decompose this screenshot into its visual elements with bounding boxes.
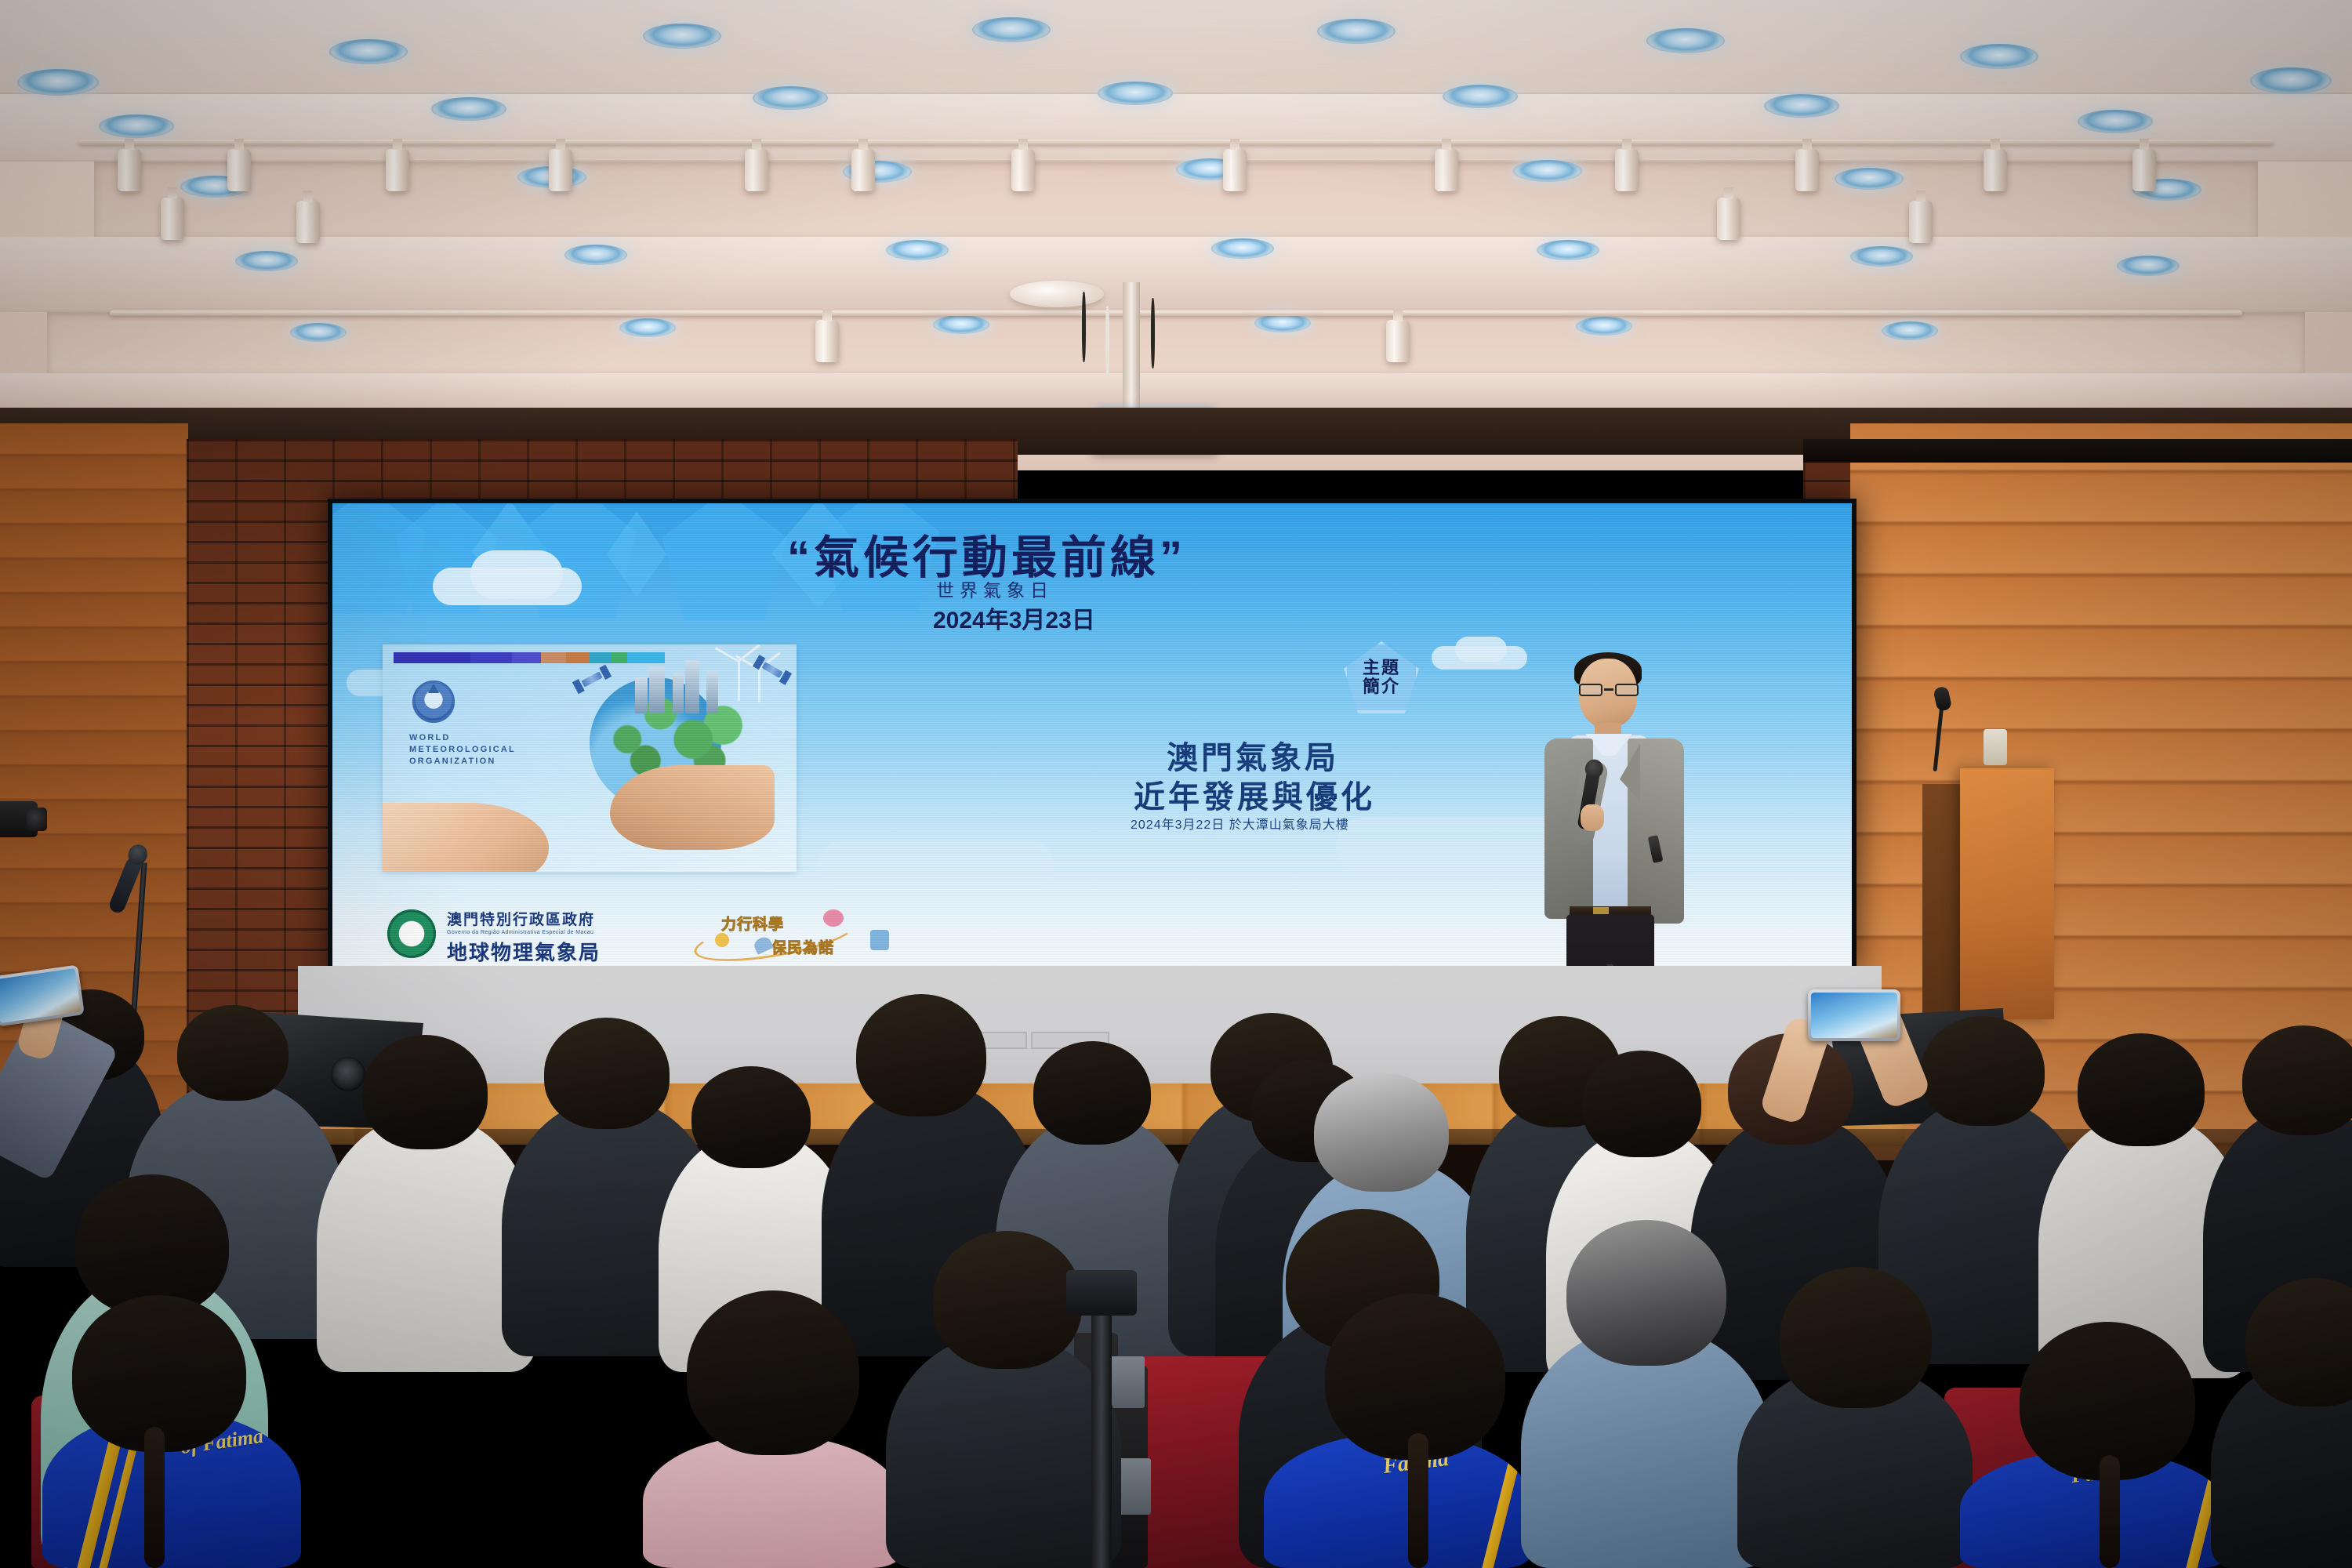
dept-name-cn: 地球物理氣象局 [447, 937, 601, 966]
wall-phone [1984, 729, 2007, 765]
ceiling-downlight [235, 251, 298, 271]
track-spotlight [1223, 149, 1247, 191]
ceiling-downlight [17, 69, 99, 96]
section-note: 2024年3月22日 於大潭山氣象局大樓 [1131, 814, 1349, 833]
slide-date: 2024年3月23日 [933, 601, 1095, 635]
satellite-icon [761, 662, 782, 678]
track-spotlight [1435, 149, 1458, 191]
ceiling [0, 0, 2352, 470]
macau-government-seal-icon [387, 909, 436, 958]
audience-hair-grey [1314, 1073, 1449, 1192]
audience-hair [691, 1066, 811, 1168]
wind-turbine-icon [758, 668, 760, 702]
ceiling-downlight [886, 240, 949, 260]
ceiling-downlight [2117, 256, 2180, 276]
ceiling-downlight [1646, 28, 1725, 53]
ceiling-downlight [564, 245, 627, 265]
audience-hair [544, 1018, 670, 1129]
audience-hair-grey [1566, 1220, 1726, 1366]
track-spotlight [1615, 149, 1639, 191]
gov-name-pt: Governo da Região Administrativa Especia… [447, 930, 601, 935]
ceiling-downlight [1211, 238, 1274, 259]
ceiling-downlight [2250, 67, 2332, 94]
government-titles: 澳門特別行政區政府 Governo da Região Administrati… [447, 908, 601, 971]
section-heading-line2: 近年發展與優化 [1134, 771, 1375, 817]
ceiling-downlight [2078, 110, 2153, 133]
track-spotlight [296, 201, 320, 243]
audience-hair [1780, 1267, 1932, 1408]
badge-line-2: 簡介 [1362, 677, 1401, 696]
audience-hair [856, 994, 986, 1116]
track-spotlight [815, 320, 839, 362]
ceiling-downlight [1317, 19, 1396, 44]
smartphone-right[interactable] [1808, 989, 1900, 1041]
ceiling-downlight [643, 24, 721, 49]
weather-balloon-icon [823, 909, 844, 927]
topic-intro-badge: 主題簡介 [1344, 641, 1419, 713]
ceiling-downlight [933, 315, 989, 334]
poster-color-bar [394, 652, 665, 663]
slide-subtitle: 世界氣象日 [936, 575, 1054, 602]
campaign-line-2: 保民為諾 [771, 936, 834, 957]
wmo-poster: WORLD METEOROLOGICAL ORGANIZATION [383, 644, 797, 872]
hair-braid [144, 1427, 165, 1568]
building-icon [870, 930, 889, 950]
wmo-line-3: ORGANIZATION [409, 756, 516, 768]
track-spotlight [1909, 201, 1933, 243]
ceiling-downlight [1764, 94, 1839, 118]
track-spotlight [1984, 149, 2007, 191]
wmo-line-1: WORLD [409, 732, 516, 744]
track-spotlight [745, 149, 768, 191]
audience-hair [687, 1290, 859, 1455]
ceiling-downlight [1513, 160, 1582, 182]
cloud-decoration [470, 550, 563, 599]
child-hand-graphic [383, 803, 549, 872]
audience-hair [1033, 1041, 1151, 1145]
ceiling-downlight [1835, 168, 1904, 190]
ceiling-downlight [753, 86, 828, 110]
ceiling-downlight [1850, 246, 1913, 267]
campaign-line-1: 力行科學 [721, 913, 784, 934]
audience-hair [2242, 1025, 2352, 1135]
gov-name-cn: 澳門特別行政區政府 [447, 908, 601, 929]
smartphone-screen [1811, 993, 1897, 1038]
ceiling-downlight [1443, 85, 1518, 108]
sun-icon [715, 933, 729, 947]
audience-hair [362, 1035, 488, 1149]
presenter-glasses [1579, 684, 1639, 696]
podium [1960, 768, 2054, 1019]
track-spotlight [1717, 198, 1740, 240]
track-spotlight [1011, 149, 1035, 191]
track-spotlight [1386, 320, 1410, 362]
video-camera [0, 801, 38, 837]
track-spotlight [227, 149, 251, 191]
track-spotlight [161, 198, 184, 240]
track-spotlight [386, 149, 409, 191]
ceiling-downlight [290, 323, 347, 342]
ceiling-downlight [1537, 240, 1599, 260]
wmo-logo-icon [412, 681, 455, 723]
badge-line-1: 主題 [1362, 659, 1401, 677]
smoke-detector [1010, 281, 1104, 307]
lighting-track [78, 140, 2274, 145]
ceiling-downlight [619, 318, 676, 337]
ceiling-downlight [1254, 314, 1311, 332]
audience-hair [933, 1231, 1082, 1369]
wind-turbine-icon [738, 660, 740, 701]
audience-hair [177, 1005, 289, 1101]
audience-hair [75, 1174, 229, 1316]
track-spotlight [1795, 149, 1819, 191]
cloud-decoration [818, 840, 1054, 887]
wmo-org-name: WORLD METEOROLOGICAL ORGANIZATION [409, 732, 516, 768]
cloud-decoration [1455, 637, 1507, 662]
track-spotlight [2132, 149, 2156, 191]
ceiling-downlight [329, 39, 408, 64]
smartphone-screen [0, 968, 81, 1023]
ceiling-downlight [1882, 321, 1938, 340]
wmo-line-2: METEOROLOGICAL [409, 744, 516, 756]
tripod-head [1066, 1270, 1137, 1316]
auditorium-scene: “氣候行動最前線” 世界氣象日 2024年3月23日 主題簡介 澳門氣象局 近年… [0, 0, 2352, 1568]
hair-braid [1408, 1433, 1428, 1568]
track-spotlight [118, 149, 141, 191]
hair-braid [2100, 1455, 2120, 1568]
ceiling-downlight [431, 97, 506, 121]
ceiling-downlight [1576, 317, 1632, 336]
adult-hand-graphic [610, 765, 775, 850]
ceiling-downlight [972, 17, 1051, 42]
presenter-hand [1581, 804, 1604, 831]
audience-hair [2078, 1033, 2205, 1146]
track-spotlight [549, 149, 572, 191]
ceiling-downlight [1098, 82, 1173, 105]
track-spotlight [851, 149, 875, 191]
lighting-track [110, 310, 2242, 316]
audience-hair [1582, 1051, 1701, 1157]
audience-hair [1921, 1016, 2045, 1126]
campaign-logo: 力行科學 保民為諾 [685, 906, 897, 961]
ceiling-downlight [99, 114, 174, 138]
camera-tripod [1091, 1286, 1112, 1568]
ceiling-downlight [1960, 44, 2038, 69]
